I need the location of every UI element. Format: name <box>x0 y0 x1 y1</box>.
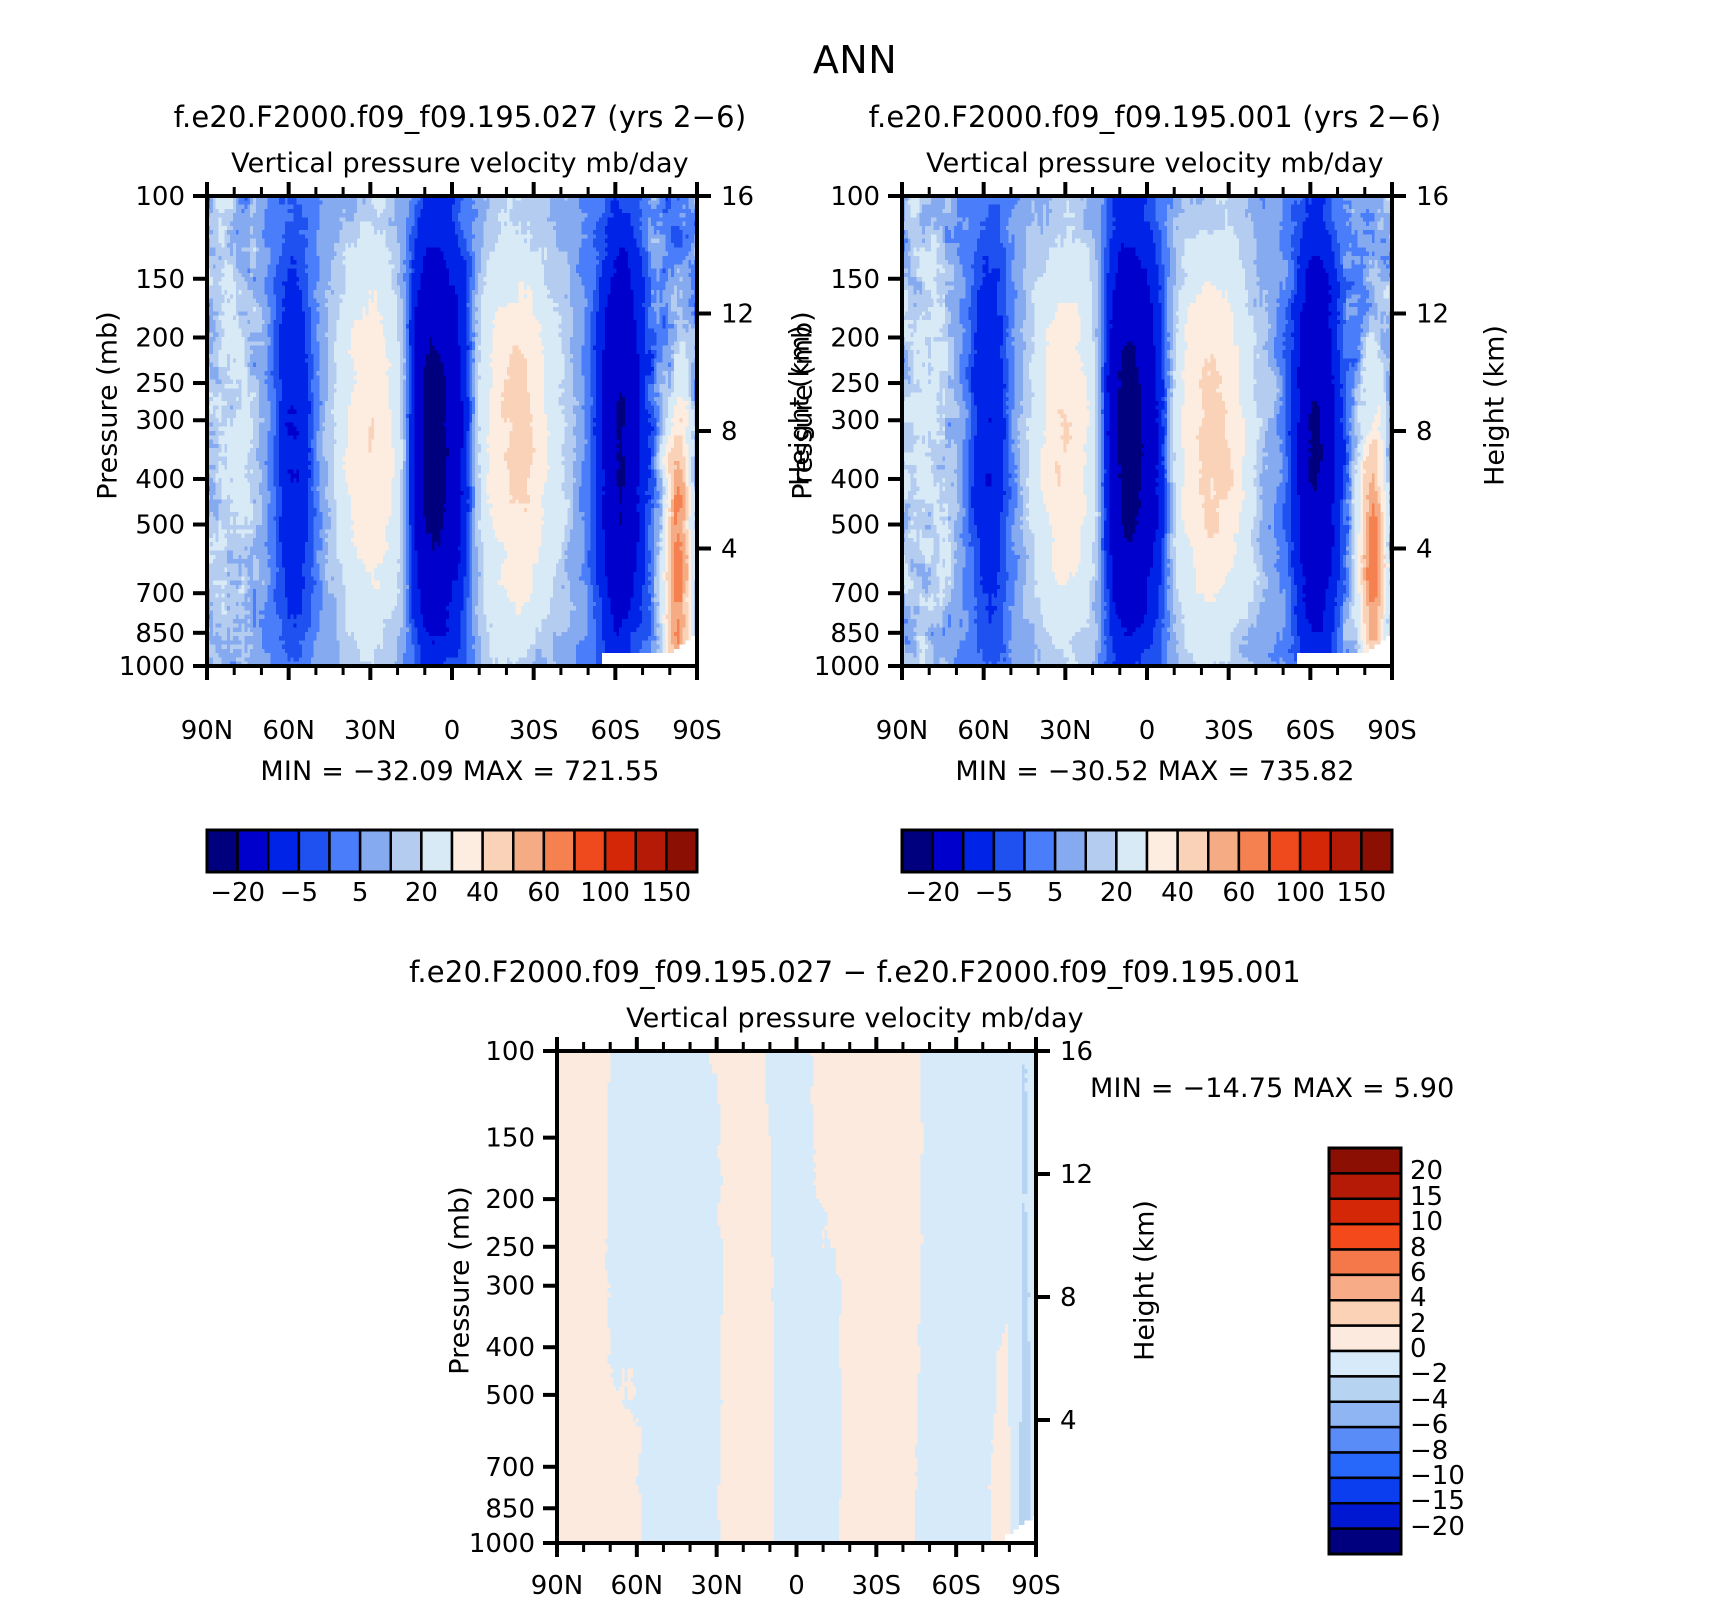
lat-tick-30S: 30S <box>836 1571 916 1601</box>
colorbar-diff-ticklabels: 20151086420−2−4−6−8−10−15−20 <box>1410 1148 1530 1554</box>
colorbar-tick-7: 150 <box>1316 878 1406 908</box>
lat-tick-0: 0 <box>1107 716 1187 746</box>
lat-tick-0: 0 <box>757 1571 837 1601</box>
lat-tick-60N: 60N <box>597 1571 677 1601</box>
panel-diff-title: f.e20.F2000.f09_f09.195.027 − f.e20.F200… <box>355 955 1355 989</box>
panel-diff-lat-ticklabels: 90N60N30N030S60S90S <box>410 1571 1050 1601</box>
panel-test-minmax: MIN = −32.09 MAX = 721.55 <box>100 756 820 787</box>
lat-tick-90S: 90S <box>657 716 737 746</box>
lat-tick-60N: 60N <box>944 716 1024 746</box>
lat-tick-30N: 30N <box>677 1571 757 1601</box>
panel-test-pressure-axis-label: Pressure (mb) <box>0 390 258 421</box>
panel-control-lat-ticklabels: 90N60N30N030S60S90S <box>755 716 1395 746</box>
colorbar-control[interactable]: −20−55204060100150 <box>902 828 1392 908</box>
lat-tick-30S: 30S <box>1189 716 1269 746</box>
panel-control-title: f.e20.F2000.f09_f09.195.001 (yrs 2−6) <box>795 100 1515 134</box>
panel-test-lat-ticklabels: 90N60N30N030S60S90S <box>60 716 700 746</box>
lat-tick-60S: 60S <box>575 716 655 746</box>
lat-tick-30S: 30S <box>494 716 574 746</box>
panel-test-title: f.e20.F2000.f09_f09.195.027 (yrs 2−6) <box>100 100 820 134</box>
figure-suptitle: ANN <box>0 38 1710 82</box>
panel-diff-var-label: Vertical pressure velocity mb/day <box>455 1003 1255 1034</box>
panel-diff-plot[interactable]: 1001502002503004005007008501000161284 <box>557 1051 1036 1543</box>
colorbar-tick-7: 150 <box>621 878 711 908</box>
panel-test-plot[interactable]: 1001502002503004005007008501000161284 <box>207 196 697 666</box>
lat-tick-90S: 90S <box>1352 716 1432 746</box>
lat-tick-90N: 90N <box>862 716 942 746</box>
lat-tick-90S: 90S <box>996 1571 1076 1601</box>
lat-tick-60S: 60S <box>1270 716 1350 746</box>
lat-tick-90N: 90N <box>167 716 247 746</box>
panel-diff-height-axis-label: Height (km) <box>995 1265 1295 1296</box>
lat-tick-0: 0 <box>412 716 492 746</box>
lat-tick-60N: 60N <box>249 716 329 746</box>
colorbar-diff-tick-14: −20 <box>1410 1512 1496 1542</box>
panel-control-var-label: Vertical pressure velocity mb/day <box>795 148 1515 179</box>
lat-tick-30N: 30N <box>330 716 410 746</box>
lat-tick-30N: 30N <box>1025 716 1105 746</box>
panel-test-var-label: Vertical pressure velocity mb/day <box>100 148 820 179</box>
panel-control-plot[interactable]: 1001502002503004005007008501000161284 <box>902 196 1392 666</box>
panel-control-minmax: MIN = −30.52 MAX = 735.82 <box>795 756 1515 787</box>
colorbar-test[interactable]: −20−55204060100150 <box>207 828 697 908</box>
lat-tick-90N: 90N <box>517 1571 597 1601</box>
panel-diff-minmax: MIN = −14.75 MAX = 5.90 <box>1090 1073 1455 1104</box>
panel-control-height-axis-label: Height (km) <box>1345 390 1645 421</box>
colorbar-diff[interactable] <box>1327 1148 1403 1554</box>
panel-diff-pressure-axis-label: Pressure (mb) <box>310 1265 610 1296</box>
panel-control-pressure-axis-label: Pressure (mb) <box>653 390 953 421</box>
lat-tick-60S: 60S <box>916 1571 996 1601</box>
